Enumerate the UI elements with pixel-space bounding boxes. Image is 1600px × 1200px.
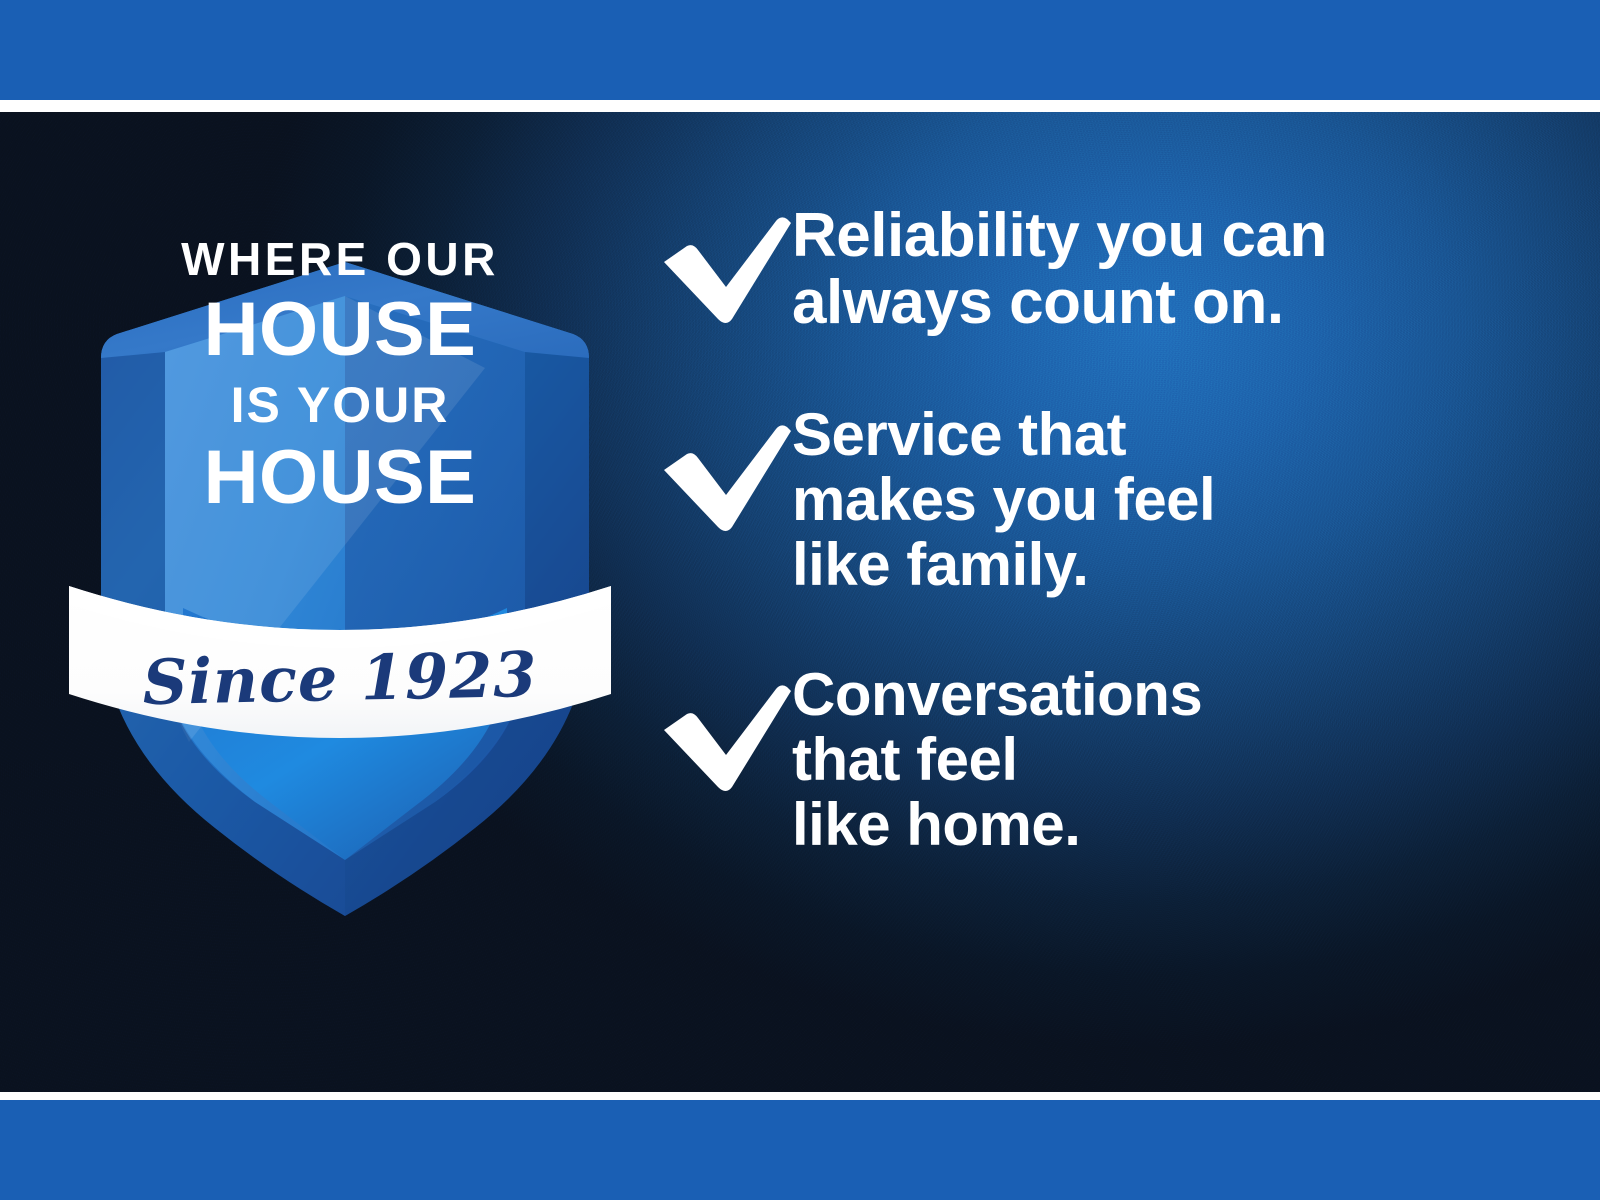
check-icon — [660, 421, 792, 539]
shield-tagline-line-2: House — [55, 292, 625, 368]
shield-tagline-line-3: Is Your — [55, 380, 625, 430]
check-icon — [660, 681, 792, 799]
benefit-text: Reliability you can always count on. — [792, 195, 1327, 337]
benefits-list: Reliability you can always count on. Ser… — [660, 195, 1540, 858]
shield-tagline: Where Our House Is Your House — [55, 236, 625, 516]
bottom-brand-bar — [0, 1100, 1600, 1200]
shield-tagline-line-4: House — [55, 440, 625, 516]
check-icon — [660, 213, 792, 331]
top-brand-bar — [0, 0, 1600, 100]
since-year-label: Since 1923 — [54, 636, 625, 721]
benefit-text: Conversations that feel like home. — [792, 655, 1202, 857]
benefit-item: Service that makes you feel like family. — [660, 395, 1540, 597]
promo-poster: Where Our House Is Your House Since 1923… — [0, 0, 1600, 1200]
benefit-item: Reliability you can always count on. — [660, 195, 1540, 337]
shield-logo: Where Our House Is Your House Since 1923 — [55, 138, 625, 818]
shield-tagline-line-1: Where Our — [55, 236, 625, 282]
benefit-item: Conversations that feel like home. — [660, 655, 1540, 857]
benefit-text: Service that makes you feel like family. — [792, 395, 1215, 597]
